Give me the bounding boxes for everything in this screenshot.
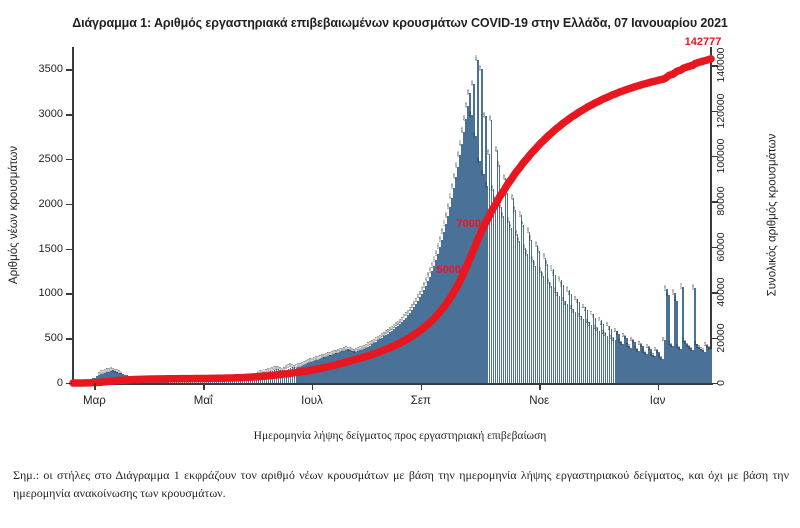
y-axis-right-tick-label: 20000	[715, 323, 727, 352]
y-axis-right-title: Συνολικός αριθμός κρουσμάτων	[764, 47, 780, 383]
footnote: Σημ.: οι στήλες στο Διάγραμμα 1 εκφράζου…	[13, 466, 789, 502]
x-axis-tick-label: Μαρ	[83, 395, 106, 407]
y-axis-left-tick	[66, 159, 72, 160]
x-axis-tick	[421, 383, 422, 390]
y-axis-left-tick-label: 500	[45, 332, 63, 344]
chart-figure: Διάγραμμα 1: Αριθμός εργαστηριακά επιβεβ…	[0, 0, 800, 528]
y-axis-left-tick	[66, 204, 72, 205]
line-end-value-label: 142777	[685, 36, 722, 48]
y-axis-right-tick-label: 140000	[715, 48, 727, 83]
x-axis-tick	[94, 383, 95, 390]
y-axis-left-tick	[66, 114, 72, 115]
y-axis-right-title-text: Συνολικός αριθμός κρουσμάτων	[766, 134, 778, 297]
x-axis-tick-label: Νοε	[529, 395, 549, 407]
y-axis-right-tick-label: 100000	[715, 138, 727, 173]
x-axis-title: Ημερομηνία λήψης δείγματος προς εργαστηρ…	[0, 430, 800, 442]
y-axis-left-tick-label: 1500	[39, 243, 63, 255]
y-axis-left-title-text: Αριθμός νέων κρουσμάτων	[8, 146, 20, 284]
y-axis-left-tick-label: 2000	[39, 198, 63, 210]
y-axis-left-tick-label: 2500	[39, 153, 63, 165]
plot-area: 9610411312012813414013112211610899981041…	[72, 47, 712, 383]
y-axis-left-tick	[66, 69, 72, 70]
y-axis-left-title: Αριθμός νέων κρουσμάτων	[6, 47, 22, 383]
y-axis-left-tick	[66, 249, 72, 250]
y-axis-right-tick-label: 0	[715, 380, 727, 386]
x-axis-tick	[203, 383, 204, 390]
y-axis-right-tick-label: 80000	[715, 187, 727, 216]
y-axis-left-tick	[66, 338, 72, 339]
y-axis-left-tick	[66, 383, 72, 384]
y-axis-left-tick-label: 1000	[39, 287, 63, 299]
y-axis-right-tick-label: 40000	[715, 278, 727, 307]
milestone-label: 50000	[436, 264, 467, 276]
x-axis-tick-label: Μαΐ	[194, 395, 213, 407]
y-axis-left-tick-label: 0	[57, 377, 63, 389]
y-axis-right-tick-label: 60000	[715, 232, 727, 261]
y-axis-left-tick-label: 3500	[39, 63, 63, 75]
x-axis-tick	[658, 383, 659, 390]
y-axis-left-tick	[66, 293, 72, 294]
x-axis-tick-label: Σεπ	[411, 395, 431, 407]
page-title: Διάγραμμα 1: Αριθμός εργαστηριακά επιβεβ…	[0, 16, 800, 30]
x-axis-tick	[312, 383, 313, 390]
y-axis-right-tick-label: 120000	[715, 93, 727, 128]
milestone-labels-layer: 5000070000	[72, 47, 712, 383]
y-axis-left-tick-label: 3000	[39, 108, 63, 120]
x-axis-spine	[71, 383, 713, 385]
x-axis-tick-label: Ιαν	[650, 395, 666, 407]
milestone-label: 70000	[456, 218, 487, 230]
x-axis-tick	[539, 383, 540, 390]
x-axis-tick-label: Ιουλ	[301, 395, 323, 407]
